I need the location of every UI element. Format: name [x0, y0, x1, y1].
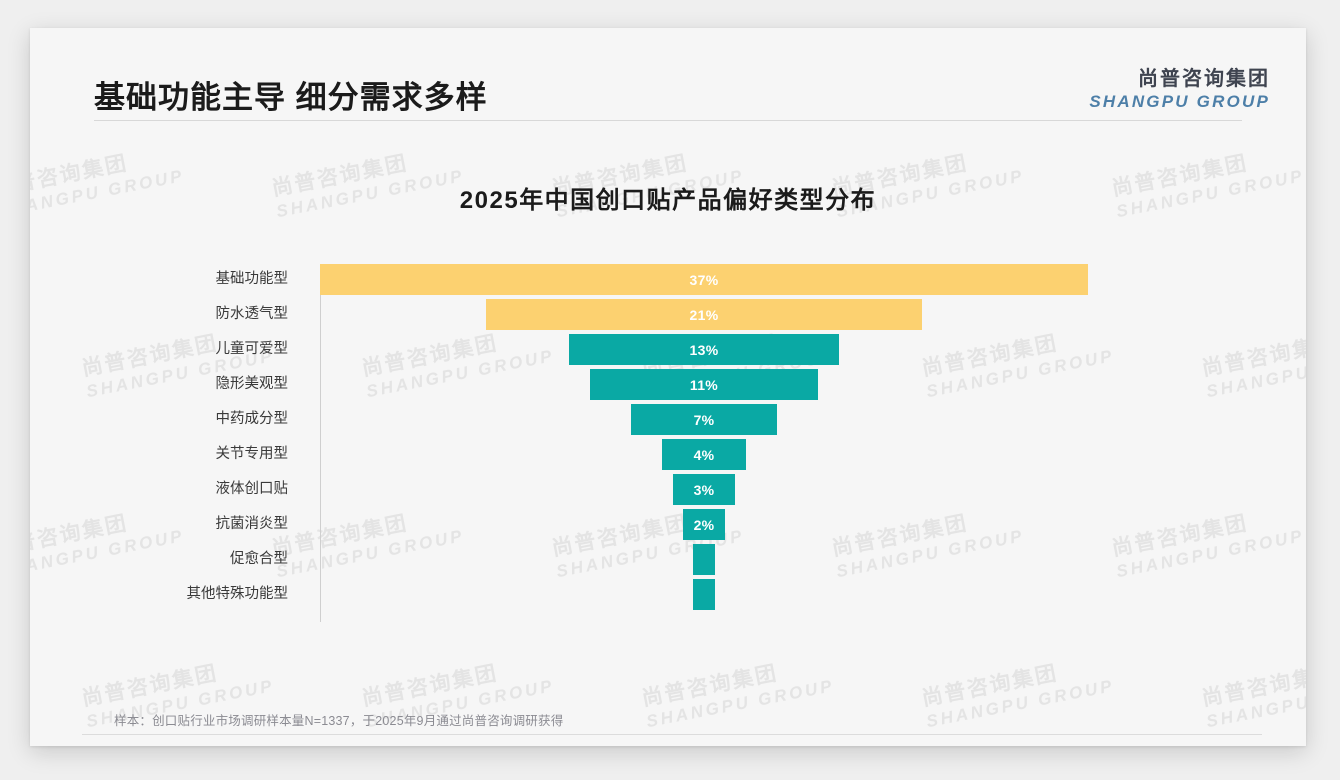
chart-row: 关节专用型4%: [190, 439, 1190, 470]
chart-row: 中药成分型7%: [190, 404, 1190, 435]
category-label: 儿童可爱型: [42, 334, 302, 365]
brand-logo: 尚普咨询集团 SHANGPU GROUP: [1089, 62, 1270, 112]
chart-row: 防水透气型21%: [190, 299, 1190, 330]
bar-segment[interactable]: 7%: [631, 404, 776, 435]
bar-segment[interactable]: 13%: [569, 334, 839, 365]
bar-segment[interactable]: 21%: [486, 299, 922, 330]
logo-english-text: SHANGPU GROUP: [1089, 92, 1270, 112]
header-divider: [94, 120, 1242, 121]
category-label: 关节专用型: [42, 439, 302, 470]
bar-value-label: 37%: [690, 272, 719, 288]
bar-segment[interactable]: 4%: [662, 439, 745, 470]
category-label: 抗菌消炎型: [42, 509, 302, 540]
chart-row: 隐形美观型11%: [190, 369, 1190, 400]
funnel-bar-chart: 基础功能型37%防水透气型21%儿童可爱型13%隐形美观型11%中药成分型7%关…: [190, 264, 1190, 624]
bar-segment[interactable]: 11%: [590, 369, 818, 400]
chart-row: 促愈合型: [190, 544, 1190, 575]
chart-area: 2025年中国创口贴产品偏好类型分布 基础功能型37%防水透气型21%儿童可爱型…: [30, 28, 1306, 746]
chart-row: 基础功能型37%: [190, 264, 1190, 295]
bar-value-label: 4%: [694, 447, 715, 463]
source-footnote: 样本：创口贴行业市场调研样本量N=1337，于2025年9月通过尚普咨询调研获得: [114, 710, 563, 729]
bar-segment[interactable]: [693, 544, 715, 575]
logo-chinese-text: 尚普咨询集团: [1089, 62, 1270, 91]
chart-row: 儿童可爱型13%: [190, 334, 1190, 365]
category-label: 促愈合型: [42, 544, 302, 575]
bar-value-label: 11%: [690, 377, 718, 393]
chart-row: 其他特殊功能型: [190, 579, 1190, 610]
category-label: 基础功能型: [42, 264, 302, 295]
bar-segment[interactable]: [693, 579, 715, 610]
chart-row: 液体创口贴3%: [190, 474, 1190, 505]
bar-value-label: 2%: [694, 517, 715, 533]
slide-header: 基础功能主导 细分需求多样 尚普咨询集团 SHANGPU GROUP: [30, 28, 1306, 122]
chart-title: 2025年中国创口贴产品偏好类型分布: [30, 180, 1306, 215]
bar-segment[interactable]: 37%: [320, 264, 1088, 295]
bar-segment[interactable]: 2%: [683, 509, 725, 540]
category-label: 液体创口贴: [42, 474, 302, 505]
bar-value-label: 3%: [694, 482, 715, 498]
category-label: 其他特殊功能型: [42, 579, 302, 610]
chart-row: 抗菌消炎型2%: [190, 509, 1190, 540]
bar-value-label: 13%: [690, 342, 719, 358]
bar-segment[interactable]: 3%: [673, 474, 735, 505]
page-title: 基础功能主导 细分需求多样: [94, 72, 488, 117]
category-label: 隐形美观型: [42, 369, 302, 400]
bar-value-label: 7%: [694, 412, 715, 428]
category-label: 防水透气型: [42, 299, 302, 330]
slide-canvas: 尚普咨询集团SHANGPU GROUP尚普咨询集团SHANGPU GROUP尚普…: [30, 28, 1306, 746]
bar-value-label: 21%: [690, 307, 719, 323]
category-label: 中药成分型: [42, 404, 302, 435]
footer-divider: [82, 734, 1262, 735]
